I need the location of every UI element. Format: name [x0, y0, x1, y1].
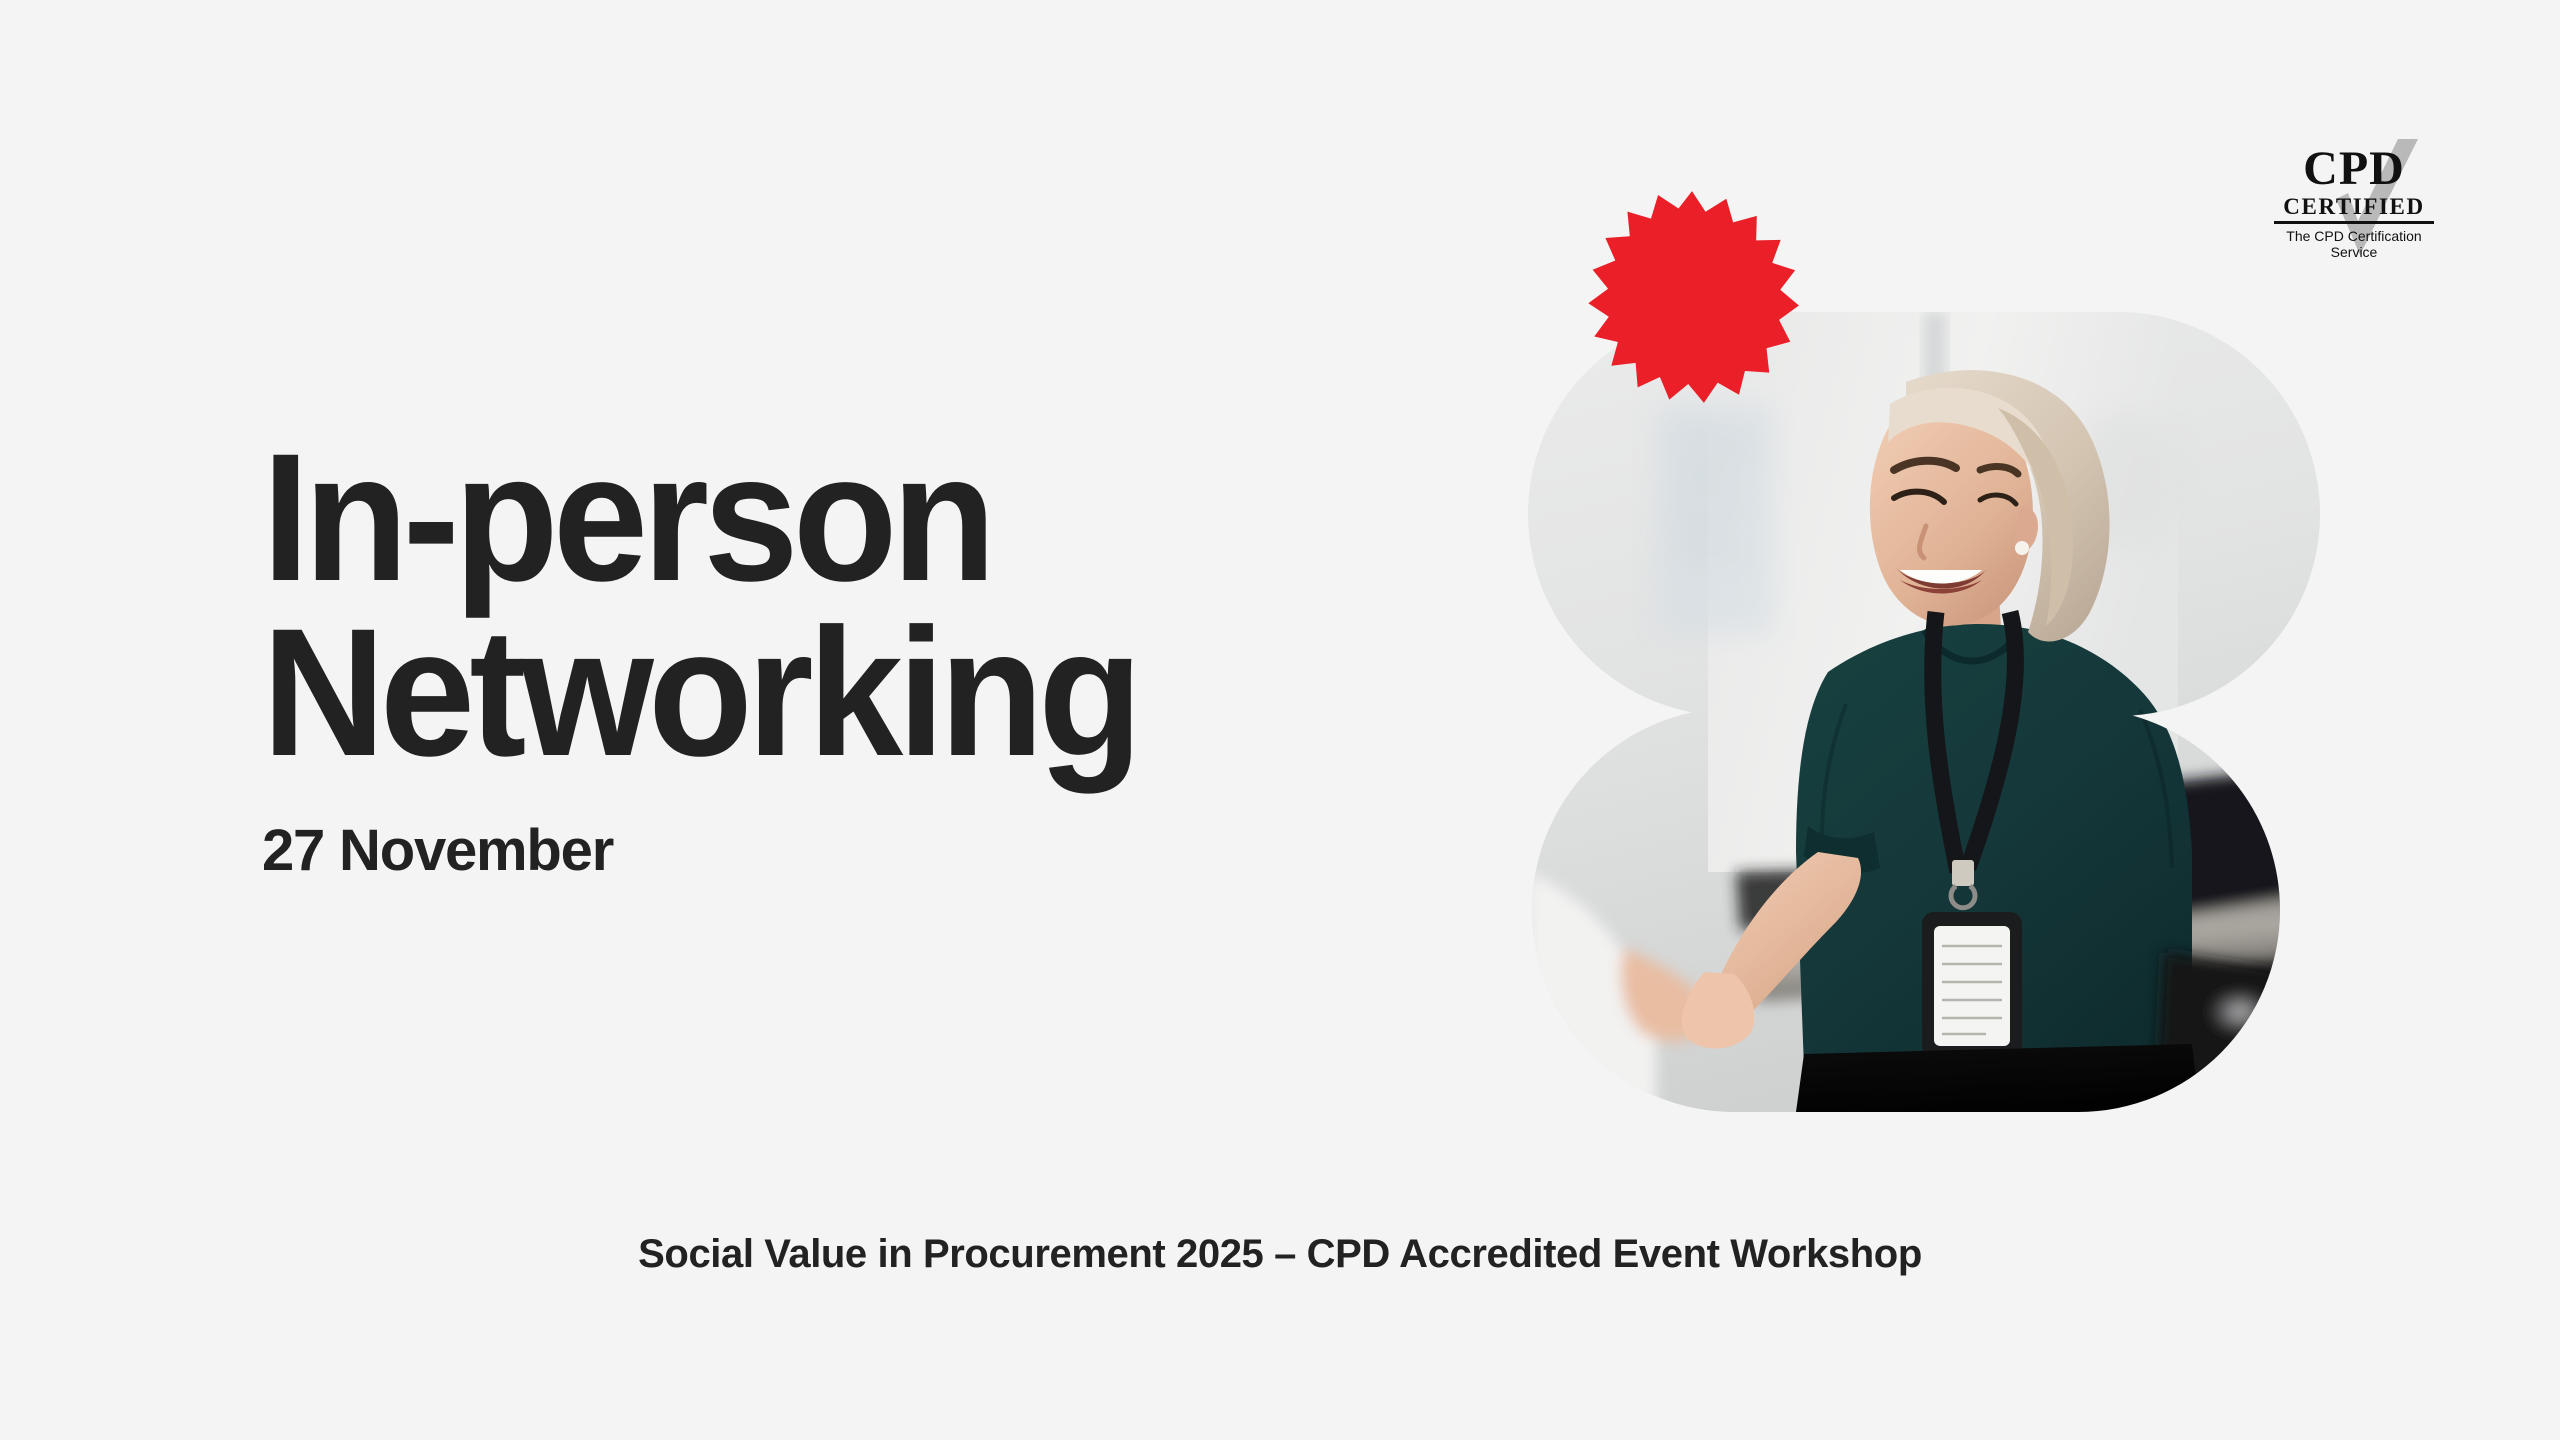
event-subtitle: Social Value in Procurement 2025 – CPD A… — [0, 1232, 2560, 1277]
starburst-badge-icon — [1584, 189, 1800, 405]
event-photo — [1528, 312, 2328, 1112]
event-date: 27 November — [262, 779, 1512, 883]
cpd-certified-logo: CPD CERTIFIED The CPD Certification Serv… — [2274, 145, 2434, 275]
photo-s-shape-mask — [1528, 312, 2328, 1112]
cpd-logo-main: CPD — [2274, 145, 2434, 193]
event-banner: In-person Networking 27 November Social … — [0, 0, 2560, 1440]
cpd-logo-sub: CERTIFIED — [2274, 193, 2434, 224]
cpd-logo-service: The CPD Certification Service — [2274, 224, 2434, 260]
page-title: In-person Networking — [262, 430, 1437, 779]
headline-block: In-person Networking 27 November — [262, 430, 1512, 883]
